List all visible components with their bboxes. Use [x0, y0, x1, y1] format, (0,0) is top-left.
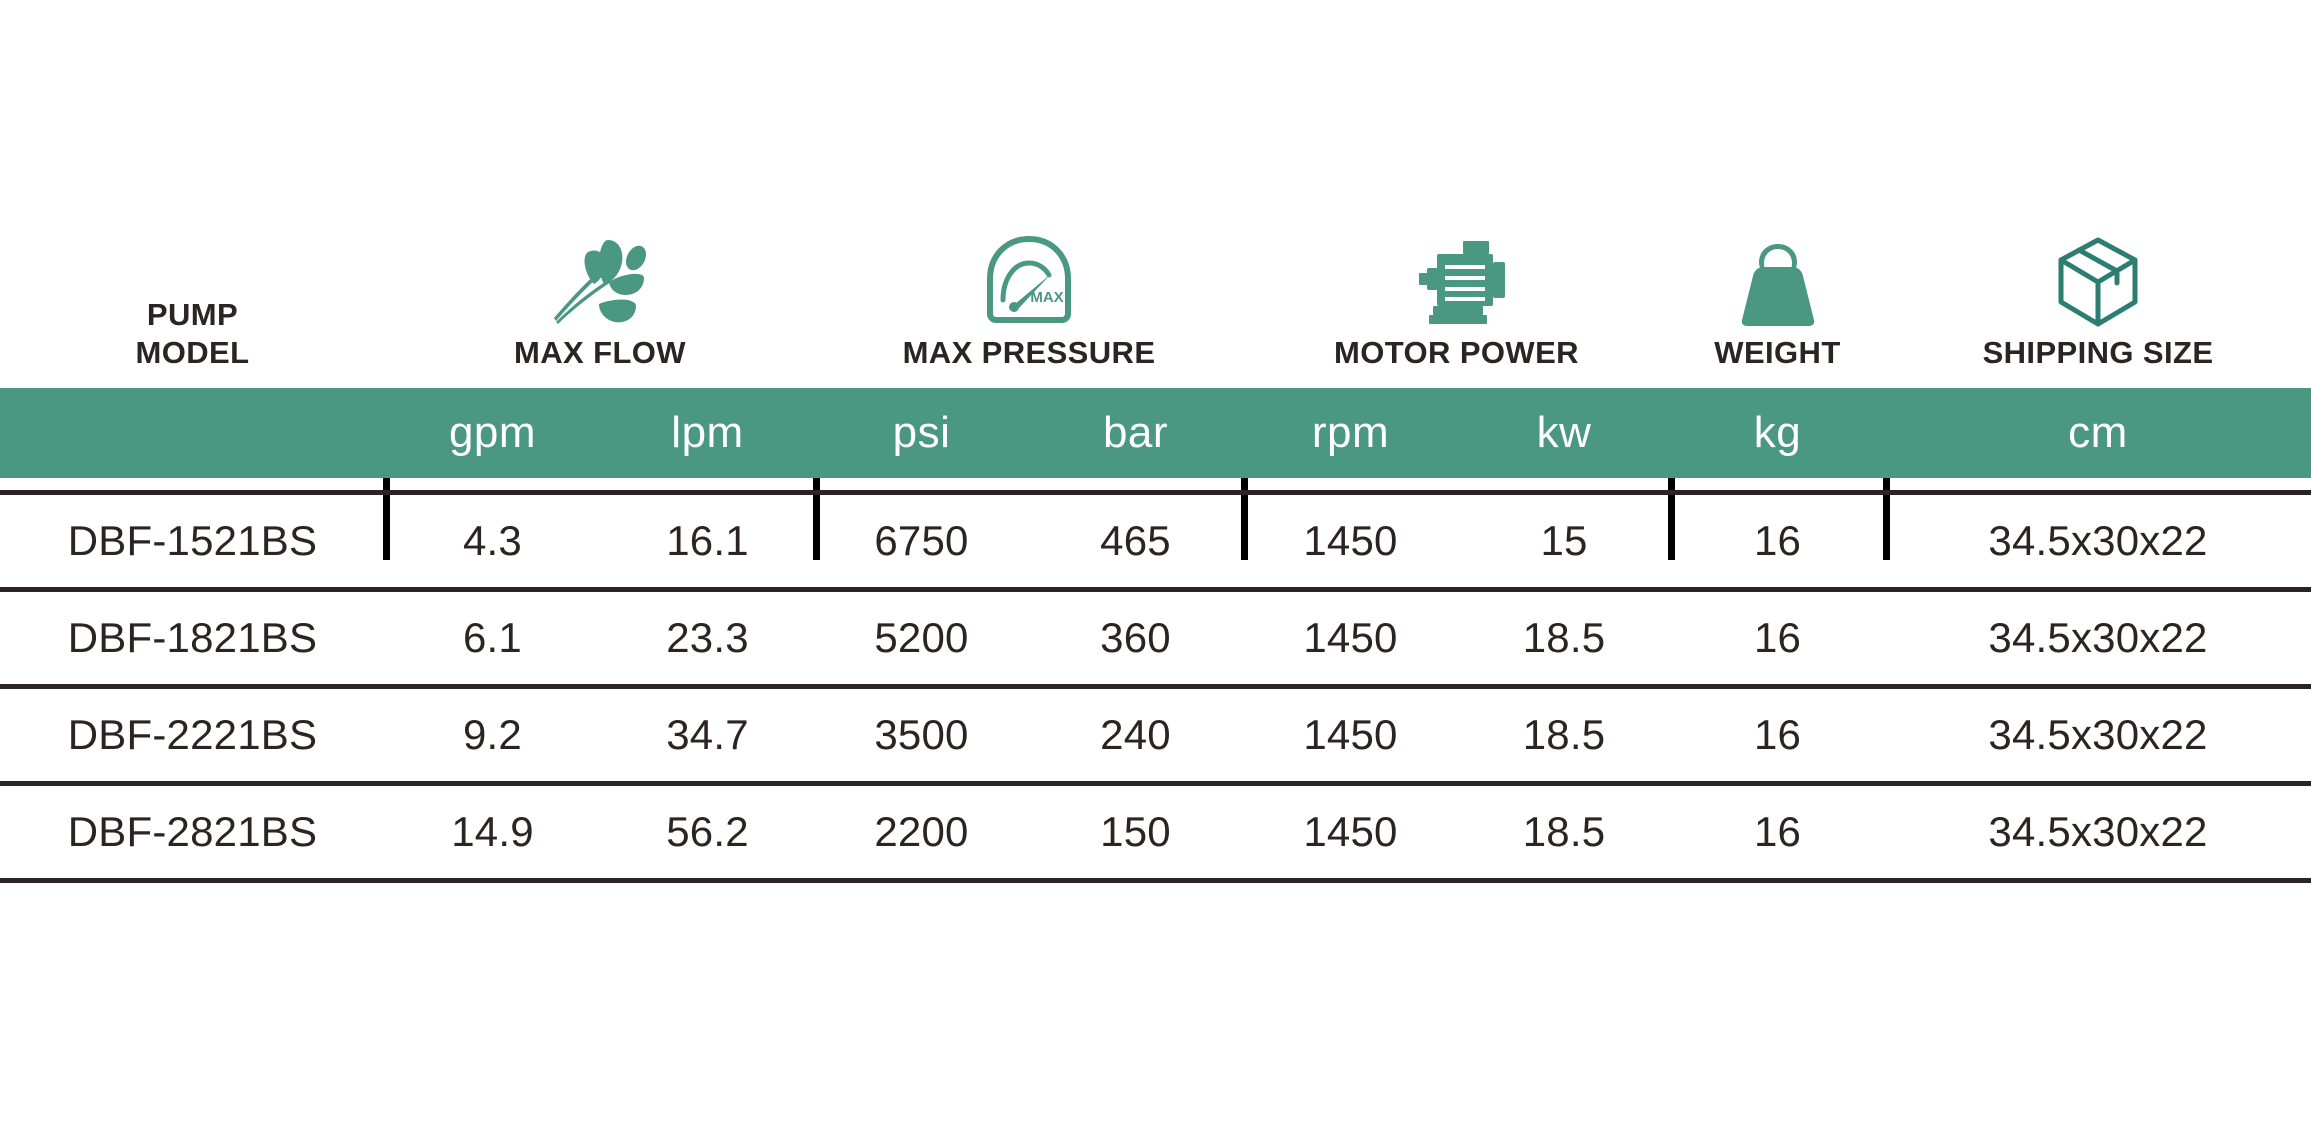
- header-group-pump-model: PUMP MODEL: [0, 190, 385, 380]
- electric-motor-icon: [1407, 228, 1507, 328]
- cell-bar: 150: [1028, 786, 1243, 878]
- cell-kw: 18.5: [1458, 689, 1670, 781]
- cell-gpm: 4.3: [385, 495, 600, 587]
- table-body: DBF-1521BS 4.3 16.1 6750 465 1450 15 16 …: [0, 490, 2311, 883]
- cell-gpm: 9.2: [385, 689, 600, 781]
- cell-rpm: 1450: [1243, 786, 1458, 878]
- table-row: DBF-2221BS 9.2 34.7 3500 240 1450 18.5 1…: [0, 689, 2311, 781]
- unit-cell-kw: kw: [1458, 388, 1670, 478]
- pressure-gauge-icon: MAX: [981, 228, 1077, 328]
- cell-gpm: 6.1: [385, 592, 600, 684]
- header-group-max-flow: MAX FLOW: [385, 190, 815, 380]
- cell-psi: 3500: [815, 689, 1028, 781]
- cell-model: DBF-1521BS: [0, 495, 385, 587]
- cell-kw: 15: [1458, 495, 1670, 587]
- table-row: DBF-2821BS 14.9 56.2 2200 150 1450 18.5 …: [0, 786, 2311, 878]
- cell-kw: 18.5: [1458, 592, 1670, 684]
- header-group-motor-power: MOTOR POWER: [1243, 190, 1670, 380]
- units-row: gpm lpm psi bar rpm kw kg cm: [0, 388, 2311, 478]
- cell-model: DBF-2821BS: [0, 786, 385, 878]
- cell-model: DBF-2221BS: [0, 689, 385, 781]
- header-label-shipping-size: SHIPPING SIZE: [1983, 334, 2214, 372]
- header-label-max-flow: MAX FLOW: [514, 334, 686, 372]
- header-label-weight: WEIGHT: [1714, 334, 1840, 372]
- cell-lpm: 56.2: [600, 786, 815, 878]
- unit-cell-model: [0, 388, 385, 478]
- cell-kg: 16: [1670, 689, 1885, 781]
- shipping-box-icon: [2055, 228, 2141, 328]
- header-label-motor-power: MOTOR POWER: [1334, 334, 1579, 372]
- unit-cell-bar: bar: [1028, 388, 1243, 478]
- unit-cell-lpm: lpm: [600, 388, 815, 478]
- cell-kw: 18.5: [1458, 786, 1670, 878]
- cell-rpm: 1450: [1243, 592, 1458, 684]
- cell-cm: 34.5x30x22: [1885, 495, 2311, 587]
- cell-lpm: 16.1: [600, 495, 815, 587]
- unit-cell-psi: psi: [815, 388, 1028, 478]
- cell-cm: 34.5x30x22: [1885, 786, 2311, 878]
- gauge-max-text: MAX: [1030, 289, 1063, 306]
- water-splash-icon: [552, 228, 648, 328]
- cell-bar: 360: [1028, 592, 1243, 684]
- weight-kettlebell-icon: [1736, 228, 1820, 328]
- cell-cm: 34.5x30x22: [1885, 689, 2311, 781]
- cell-kg: 16: [1670, 592, 1885, 684]
- cell-cm: 34.5x30x22: [1885, 592, 2311, 684]
- cell-rpm: 1450: [1243, 495, 1458, 587]
- unit-cell-cm: cm: [1885, 388, 2311, 478]
- unit-cell-rpm: rpm: [1243, 388, 1458, 478]
- cell-kg: 16: [1670, 786, 1885, 878]
- header-label-pump-model: PUMP MODEL: [136, 296, 250, 372]
- cell-gpm: 14.9: [385, 786, 600, 878]
- header-group-max-pressure: MAX MAX PRESSURE: [815, 190, 1243, 380]
- cell-bar: 240: [1028, 689, 1243, 781]
- cell-model: DBF-1821BS: [0, 592, 385, 684]
- unit-cell-gpm: gpm: [385, 388, 600, 478]
- cell-lpm: 23.3: [600, 592, 815, 684]
- header-group-shipping-size: SHIPPING SIZE: [1885, 190, 2311, 380]
- header-label-max-pressure: MAX PRESSURE: [903, 334, 1156, 372]
- cell-rpm: 1450: [1243, 689, 1458, 781]
- table-row: DBF-1521BS 4.3 16.1 6750 465 1450 15 16 …: [0, 495, 2311, 587]
- cell-kg: 16: [1670, 495, 1885, 587]
- table-row: DBF-1821BS 6.1 23.3 5200 360 1450 18.5 1…: [0, 592, 2311, 684]
- table-header-groups: PUMP MODEL MAX FLOW: [0, 190, 2311, 380]
- row-rule-bottom: [0, 878, 2311, 883]
- cell-psi: 2200: [815, 786, 1028, 878]
- cell-psi: 6750: [815, 495, 1028, 587]
- cell-bar: 465: [1028, 495, 1243, 587]
- unit-cell-kg: kg: [1670, 388, 1885, 478]
- cell-psi: 5200: [815, 592, 1028, 684]
- cell-lpm: 34.7: [600, 689, 815, 781]
- header-group-weight: WEIGHT: [1670, 190, 1885, 380]
- pump-spec-table: PUMP MODEL MAX FLOW: [0, 0, 2311, 1135]
